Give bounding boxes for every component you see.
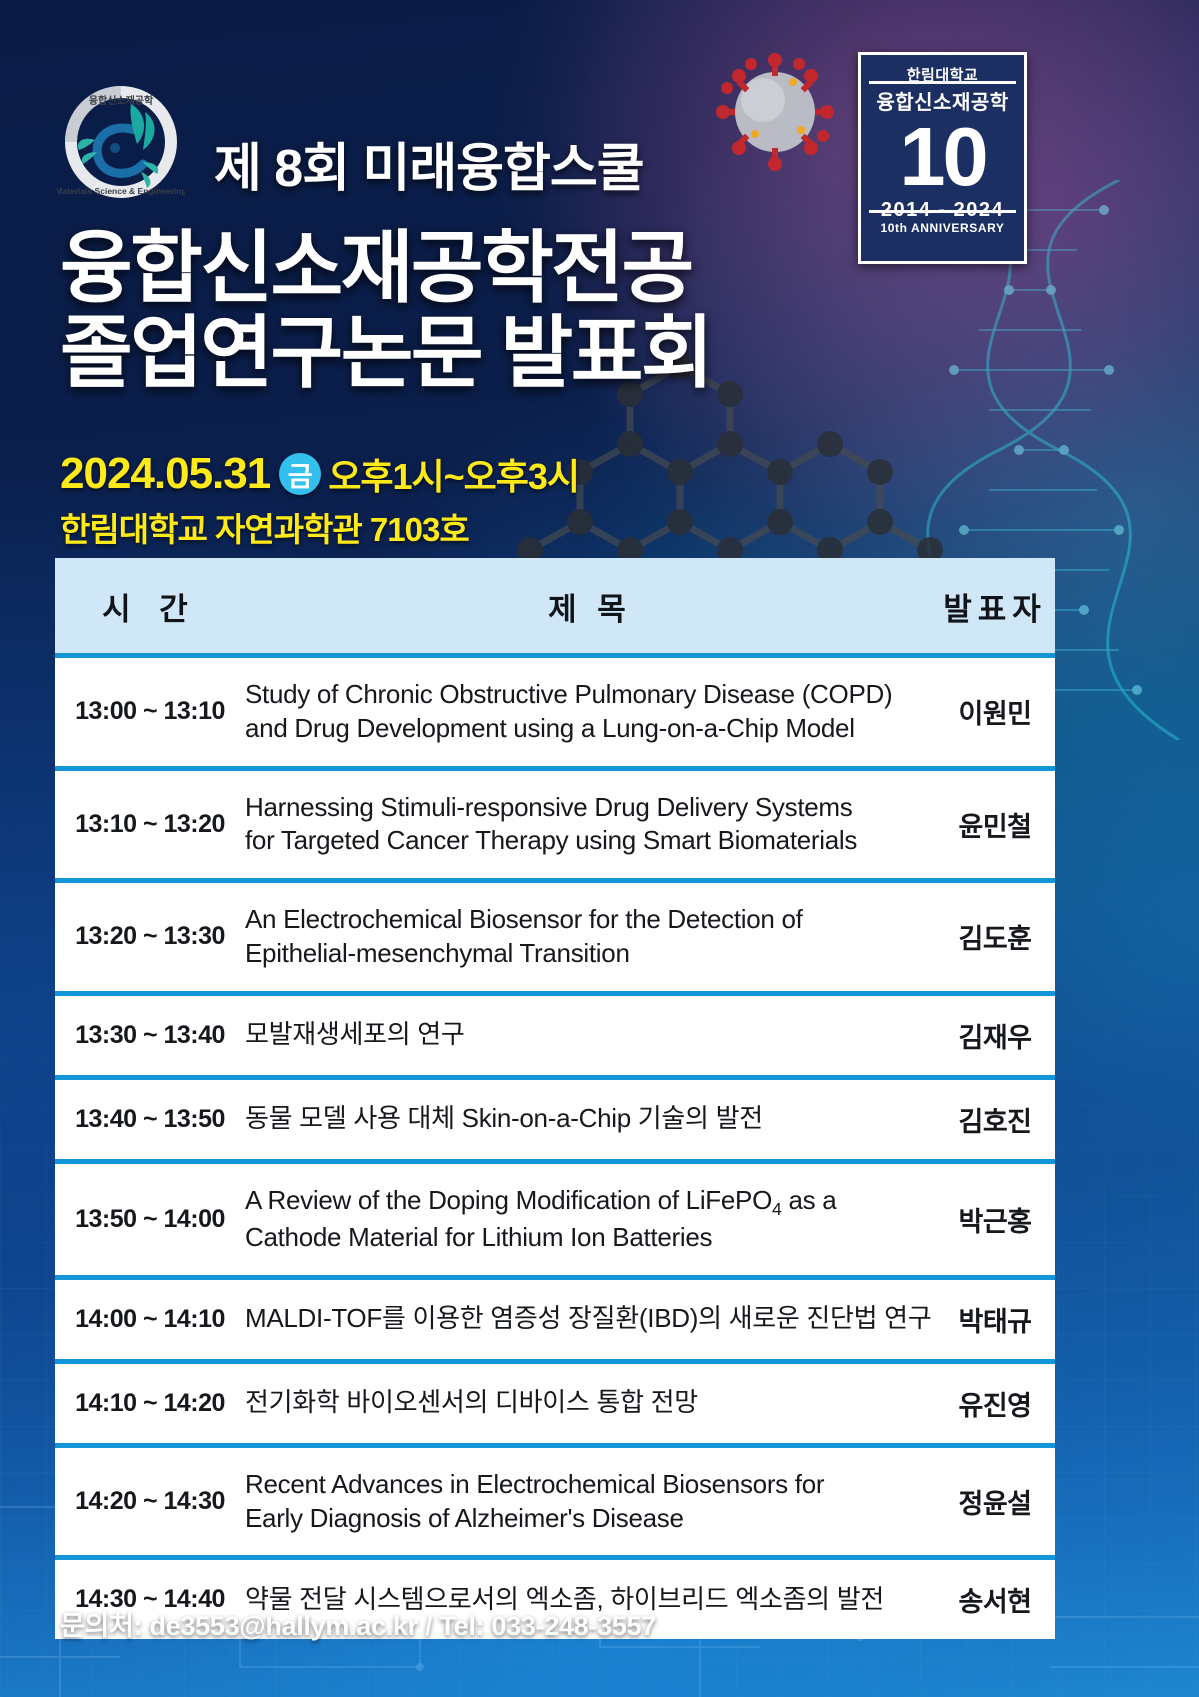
virus-particle-graphic	[705, 42, 845, 182]
cell-title-line-1: MALDI-TOF를 이용한 염증성 장질환(IBD)의 새로운 진단법 연구	[245, 1302, 935, 1336]
schedule-table-container: 시 간 제 목 발표자 13:00 ~ 13:10Study of Chroni…	[55, 558, 1055, 1639]
table-row: 14:10 ~ 14:20전기화학 바이오센서의 디바이스 통합 전망유진영	[55, 1361, 1055, 1445]
table-row: 14:00 ~ 14:10MALDI-TOF를 이용한 염증성 장질환(IBD)…	[55, 1277, 1055, 1361]
cell-title: 동물 모델 사용 대체 Skin-on-a-Chip 기술의 발전	[245, 1077, 935, 1161]
cell-title: 모발재생세포의 연구	[245, 993, 935, 1077]
cell-time: 13:40 ~ 13:50	[55, 1077, 245, 1161]
cell-title-line-2: Cathode Material for Lithium Ion Batteri…	[245, 1221, 935, 1255]
table-row: 13:10 ~ 13:20Harnessing Stimuli-responsi…	[55, 768, 1055, 881]
table-row: 13:00 ~ 13:10Study of Chronic Obstructiv…	[55, 656, 1055, 769]
cell-speaker: 윤민철	[935, 768, 1055, 881]
cell-title-line-1: 전기화학 바이오센서의 디바이스 통합 전망	[245, 1386, 935, 1420]
cell-time: 14:20 ~ 14:30	[55, 1445, 245, 1558]
cell-time: 14:10 ~ 14:20	[55, 1361, 245, 1445]
cell-title-line-1: 모발재생세포의 연구	[245, 1018, 935, 1052]
badge-rule-bottom	[869, 210, 1016, 213]
event-time-range: 오후1시~오후3시	[328, 448, 579, 500]
cell-title: Recent Advances in Electrochemical Biose…	[245, 1445, 935, 1558]
title-line-2: 졸업연구논문 발표회	[60, 311, 880, 396]
cell-title: A Review of the Doping Modification of L…	[245, 1161, 935, 1277]
department-logo: 융합신소재공학 Materials Science & Engineering	[57, 78, 185, 206]
cell-title: An Electrochemical Biosensor for the Det…	[245, 881, 935, 994]
cell-time: 13:30 ~ 13:40	[55, 993, 245, 1077]
poster-root: 융합신소재공학 Materials Science & Engineering …	[0, 0, 1199, 1697]
schedule-table: 시 간 제 목 발표자 13:00 ~ 13:10Study of Chroni…	[55, 558, 1055, 1639]
table-header: 시 간 제 목 발표자	[55, 558, 1055, 656]
cell-title-line-1: 동물 모델 사용 대체 Skin-on-a-Chip 기술의 발전	[245, 1102, 935, 1136]
table-row: 13:40 ~ 13:50동물 모델 사용 대체 Skin-on-a-Chip …	[55, 1077, 1055, 1161]
event-venue: 한림대학교 자연과학관 7103호	[60, 503, 469, 551]
column-header-time: 시 간	[55, 558, 245, 656]
contact-info: 문의처: de3553@hallym.ac.kr / Tel: 033-248-…	[60, 1604, 656, 1643]
cell-speaker: 이원민	[935, 656, 1055, 769]
cell-time: 13:20 ~ 13:30	[55, 881, 245, 994]
weekday-badge: 금	[279, 453, 321, 495]
cell-title-line-1: Harnessing Stimuli-responsive Drug Deliv…	[245, 791, 935, 825]
title-line-1: 융합신소재공학전공	[60, 226, 880, 311]
anniversary-badge: 한림대학교 융합신소재공학 10 2014 - 2024 10th ANNIVE…	[858, 52, 1027, 264]
event-kicker: 제 8회 미래융합스쿨	[214, 126, 644, 201]
table-header-row: 시 간 제 목 발표자	[55, 558, 1055, 656]
column-header-title: 제 목	[245, 558, 935, 656]
cell-speaker: 김도훈	[935, 881, 1055, 994]
badge-number: 10	[899, 117, 985, 197]
cell-time: 13:50 ~ 14:00	[55, 1161, 245, 1277]
column-header-speaker: 발표자	[935, 558, 1055, 656]
event-datetime: 2024.05.31 금 오후1시~오후3시	[60, 448, 579, 500]
table-row: 13:30 ~ 13:40모발재생세포의 연구김재우	[55, 993, 1055, 1077]
cell-title: 전기화학 바이오센서의 디바이스 통합 전망	[245, 1361, 935, 1445]
logo-ring-text-top: 융합신소재공학	[89, 94, 154, 107]
cell-title-line-2: and Drug Development using a Lung-on-a-C…	[245, 712, 935, 746]
table-row: 14:20 ~ 14:30Recent Advances in Electroc…	[55, 1445, 1055, 1558]
badge-subtitle: 10th ANNIVERSARY	[880, 221, 1004, 235]
cell-time: 13:10 ~ 13:20	[55, 768, 245, 881]
cell-title-line-1: Recent Advances in Electrochemical Biose…	[245, 1468, 935, 1502]
logo-ring-text-bottom: Materials Science & Engineering	[57, 186, 185, 196]
cell-speaker: 유진영	[935, 1361, 1055, 1445]
cell-title-line-2: Epithelial-mesenchymal Transition	[245, 937, 935, 971]
cell-title-line-2: for Targeted Cancer Therapy using Smart …	[245, 824, 935, 858]
cell-title: Harnessing Stimuli-responsive Drug Deliv…	[245, 768, 935, 881]
page-title: 융합신소재공학전공 졸업연구논문 발표회	[60, 226, 880, 395]
cell-title: MALDI-TOF를 이용한 염증성 장질환(IBD)의 새로운 진단법 연구	[245, 1277, 935, 1361]
table-row: 13:20 ~ 13:30An Electrochemical Biosenso…	[55, 881, 1055, 994]
event-date: 2024.05.31	[60, 449, 270, 499]
cell-speaker: 정윤설	[935, 1445, 1055, 1558]
cell-time: 14:00 ~ 14:10	[55, 1277, 245, 1361]
table-row: 13:50 ~ 14:00A Review of the Doping Modi…	[55, 1161, 1055, 1277]
cell-speaker: 김호진	[935, 1077, 1055, 1161]
cell-title-line-1: Study of Chronic Obstructive Pulmonary D…	[245, 678, 935, 712]
cell-title-line-1: A Review of the Doping Modification of L…	[245, 1184, 935, 1221]
cell-speaker: 박근홍	[935, 1161, 1055, 1277]
cell-title: Study of Chronic Obstructive Pulmonary D…	[245, 656, 935, 769]
cell-speaker: 김재우	[935, 993, 1055, 1077]
cell-time: 13:00 ~ 13:10	[55, 656, 245, 769]
cell-speaker: 송서현	[935, 1558, 1055, 1640]
cell-title-line-2: Early Diagnosis of Alzheimer's Disease	[245, 1502, 935, 1536]
table-body: 13:00 ~ 13:10Study of Chronic Obstructiv…	[55, 656, 1055, 1640]
cell-title-line-1: An Electrochemical Biosensor for the Det…	[245, 903, 935, 937]
badge-rule-top	[869, 81, 1016, 84]
cell-speaker: 박태규	[935, 1277, 1055, 1361]
